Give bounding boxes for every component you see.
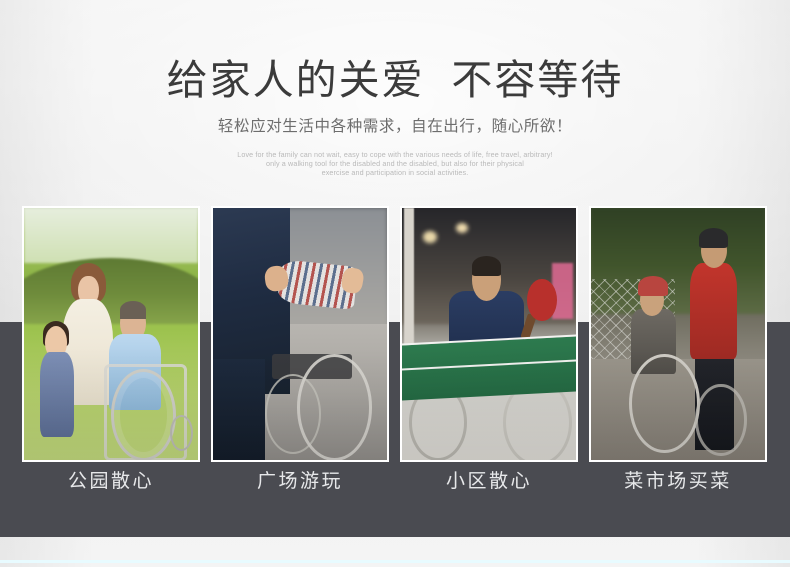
- header-block: 给家人的关爱 不容等待 轻松应对生活中各种需求，自在出行，随心所欲！ Love …: [0, 0, 790, 177]
- gallery-card-1[interactable]: [22, 206, 200, 462]
- gallery-card-3[interactable]: [400, 206, 578, 462]
- english-line-3: exercise and participation in social act…: [225, 168, 565, 177]
- player-hair: [472, 256, 502, 276]
- page-subtitle: 轻松应对生活中各种需求，自在出行，随心所欲！: [0, 104, 790, 137]
- photo-table-tennis: [402, 208, 576, 460]
- denim-leg-lower: [213, 359, 265, 460]
- promo-banner: 给家人的关爱 不容等待 轻松应对生活中各种需求，自在出行，随心所欲！ Love …: [0, 0, 790, 567]
- girl-dress: [40, 352, 75, 438]
- seated-person-cap: [638, 276, 668, 296]
- man-hair: [120, 301, 146, 319]
- wheelchair-wheel-large: [111, 369, 176, 460]
- wheelchair-wheel-front: [297, 354, 373, 460]
- english-line-1: Love for the family can not wait, easy t…: [226, 150, 564, 159]
- english-line-2: only a walking tool for the disabled and…: [225, 159, 565, 168]
- bottom-accent-rule: [0, 560, 790, 563]
- caption-1: 公园散心: [22, 468, 200, 496]
- white-post: [404, 208, 414, 354]
- caregiver-cap: [699, 228, 729, 248]
- caption-4: 菜市场买菜: [589, 468, 767, 496]
- ping-pong-paddle: [527, 279, 557, 322]
- wheelchair-wheel-small: [170, 415, 193, 452]
- gallery-card-4[interactable]: [589, 206, 767, 462]
- photo-park-outing: [24, 208, 198, 460]
- english-description: Love for the family can not wait, easy t…: [225, 137, 565, 177]
- caption-2: 广场游玩: [211, 468, 389, 496]
- caption-row: 公园散心 广场游玩 小区散心 菜市场买菜: [0, 468, 790, 508]
- hedge-region: [24, 258, 198, 324]
- gallery-card-2[interactable]: [211, 206, 389, 462]
- wheelchair-wheel-far: [695, 384, 746, 456]
- caregiver-red-jacket: [690, 263, 737, 359]
- photo-gallery: [0, 206, 790, 462]
- wheelchair-wheel-near: [629, 354, 699, 453]
- ceiling-lamp-1: [423, 231, 437, 244]
- photo-market-trip: [591, 208, 765, 460]
- page-title: 给家人的关爱 不容等待: [0, 0, 790, 104]
- caption-3: 小区散心: [400, 468, 578, 496]
- photo-plaza-outing: [213, 208, 387, 460]
- sky-region: [24, 208, 198, 263]
